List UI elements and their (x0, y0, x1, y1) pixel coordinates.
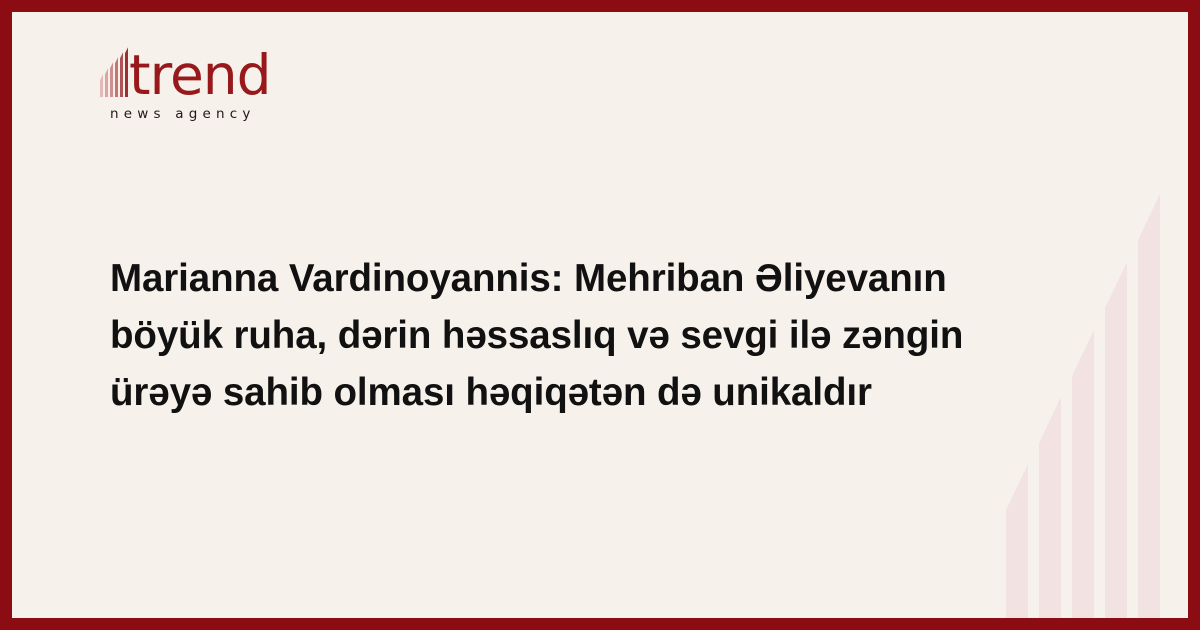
logo-wordmark: trend (129, 52, 271, 99)
watermark-bar-2 (1039, 443, 1061, 618)
watermark-bar-1 (1006, 510, 1028, 618)
logo-bar-5 (120, 58, 123, 97)
logo-bar-6 (125, 53, 128, 97)
logo-bar-2 (105, 74, 108, 97)
logo-mark: trend (100, 52, 340, 99)
ascending-bars-icon (100, 53, 128, 99)
logo-bar-3 (110, 68, 113, 97)
watermark-bar-4 (1105, 308, 1127, 618)
logo-bar-4 (115, 63, 118, 97)
watermark-bar-5 (1138, 240, 1160, 618)
trend-news-agency-logo[interactable]: trend news agency (100, 52, 340, 122)
logo-tagline: news agency (110, 106, 340, 122)
share-card: trend news agency Marianna Vardinoyannis… (12, 12, 1188, 618)
logo-bar-1 (100, 80, 103, 97)
watermark-bar-3 (1072, 376, 1094, 618)
article-headline: Marianna Vardinoyannis: Mehriban Əliyeva… (110, 250, 1065, 421)
